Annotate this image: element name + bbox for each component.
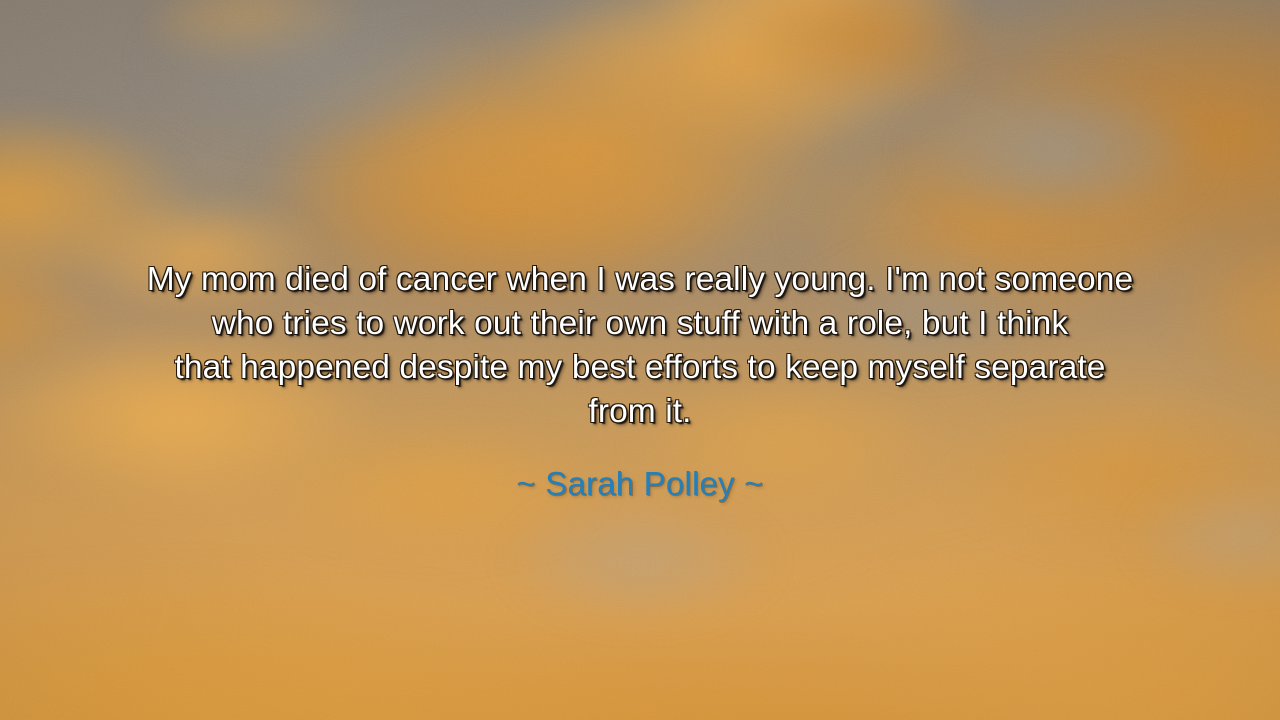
quote-line-4: from it. (28, 390, 1252, 434)
quote-line-2: who tries to work out their own stuff wi… (28, 302, 1252, 346)
quote-attribution: ~ Sarah Polley ~ (0, 462, 1280, 506)
quote-line-1: My mom died of cancer when I was really … (28, 258, 1252, 302)
author-name: ~ Sarah Polley ~ (516, 465, 763, 502)
quote-text-block: My mom died of cancer when I was really … (0, 258, 1280, 434)
quote-line-3: that happened despite my best efforts to… (28, 346, 1252, 390)
quote-card: My mom died of cancer when I was really … (0, 0, 1280, 720)
